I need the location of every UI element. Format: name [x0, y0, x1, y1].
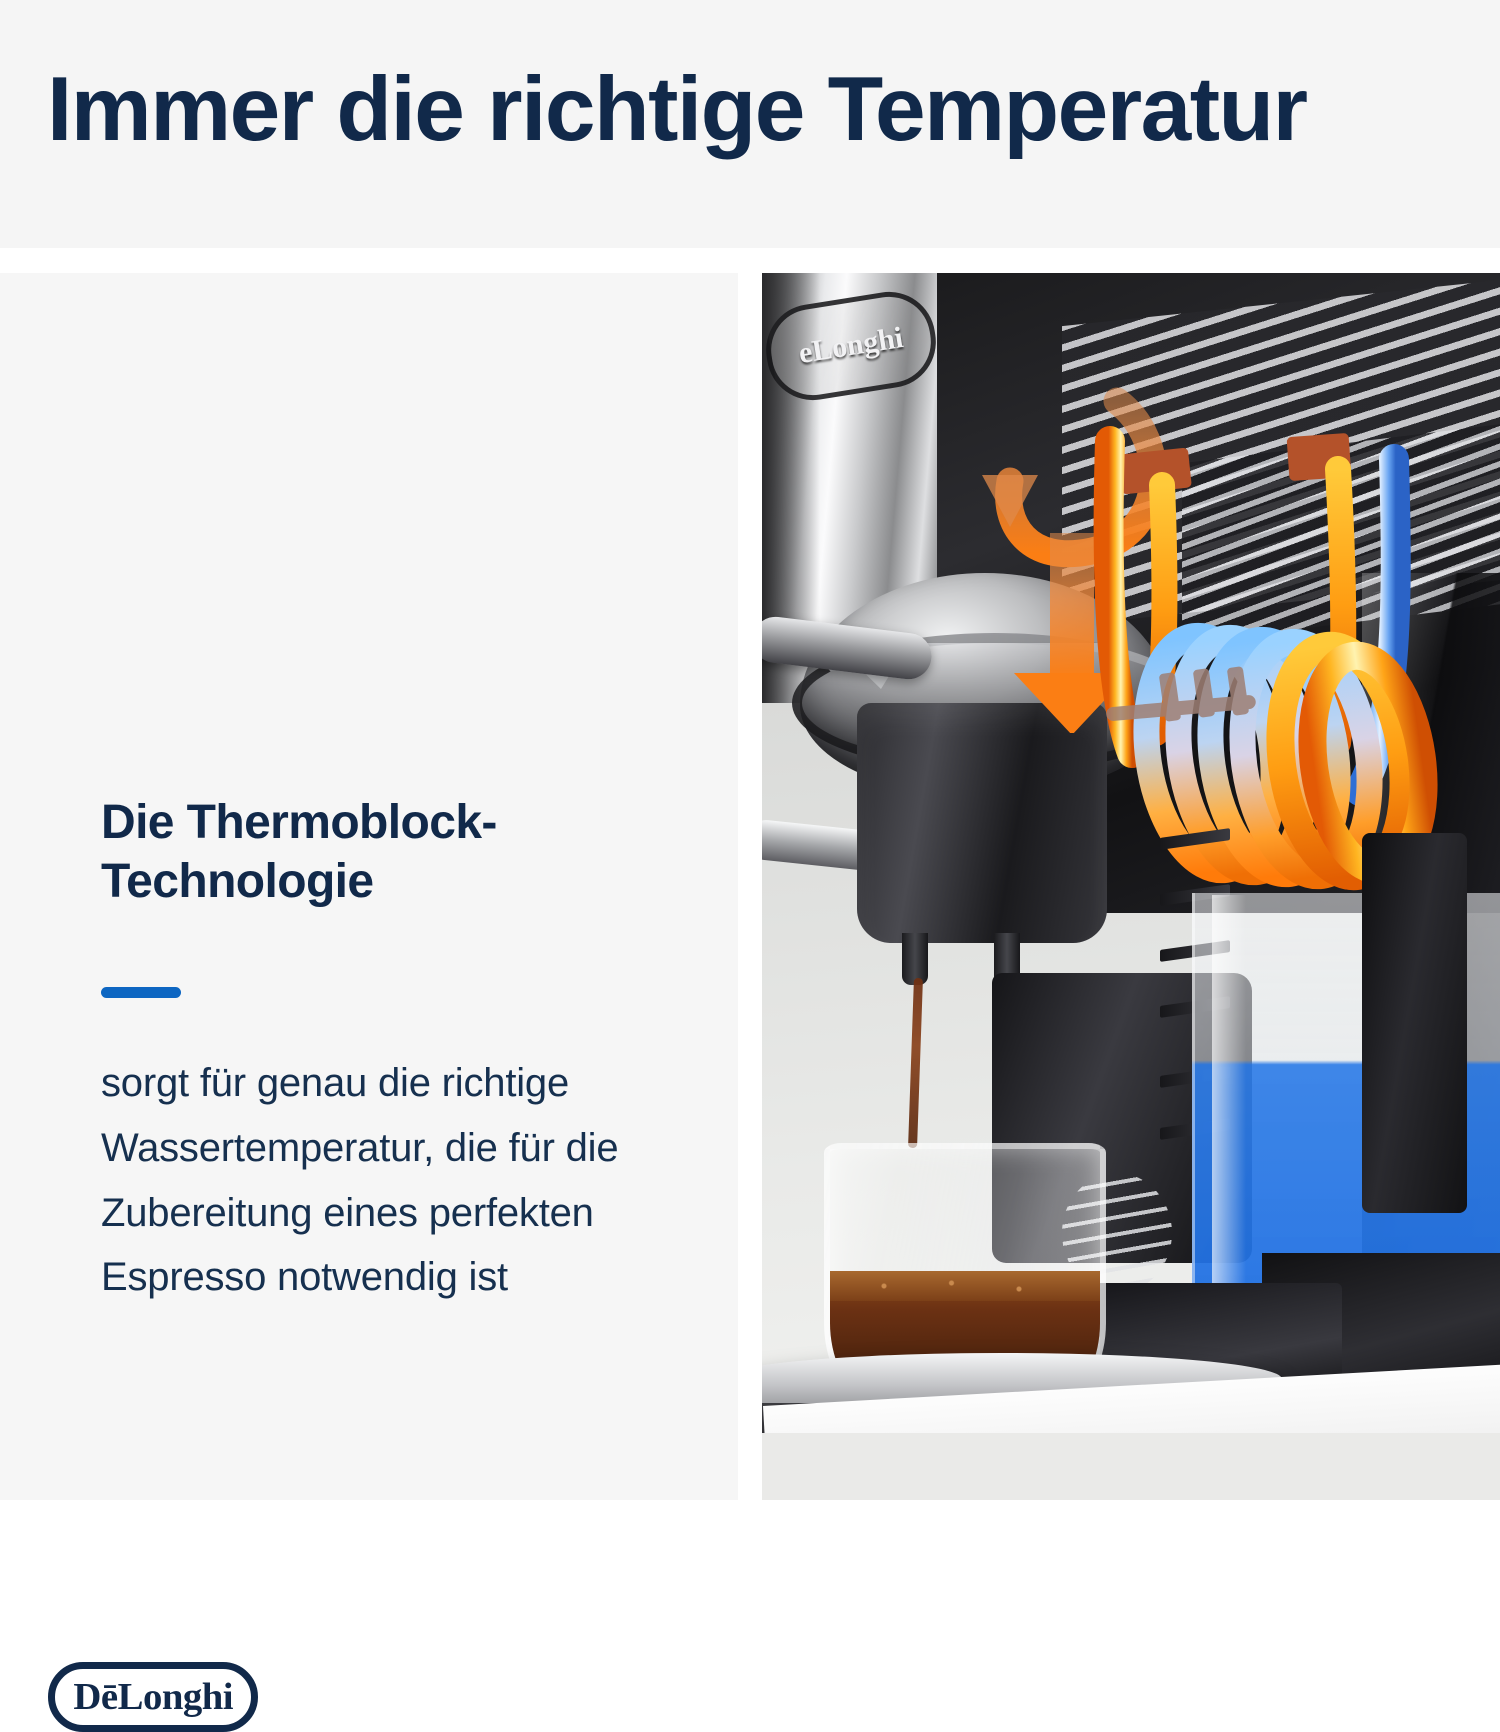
portafilter-spout-left — [902, 933, 928, 985]
water-tank-gloss — [1212, 895, 1246, 1325]
product-image: eLonghi CLOSE — [762, 273, 1500, 1500]
delonghi-logo: DēLonghi — [48, 1662, 258, 1732]
accent-divider — [101, 987, 181, 998]
water-tank-dark-insert — [1362, 833, 1467, 1213]
counter-surface-lower — [762, 1433, 1500, 1500]
feature-subtitle: Die Thermoblock-Technologie — [101, 794, 701, 911]
promo-page: Immer die richtige Temperatur Die Thermo… — [0, 0, 1500, 1500]
product-image-scene: eLonghi CLOSE — [762, 273, 1500, 1500]
delonghi-logo-text: DēLonghi — [73, 1678, 233, 1716]
espresso-crema — [830, 1271, 1100, 1301]
portafilter — [857, 703, 1107, 943]
page-title: Immer die richtige Temperatur — [47, 62, 1307, 158]
feature-body-text: sorgt für genau die richtige Wassertempe… — [101, 1051, 657, 1310]
feature-text-panel: Die Thermoblock-Technologie sorgt für ge… — [0, 273, 738, 1500]
machine-brand-badge-text: eLonghi — [796, 321, 905, 371]
header-band: Immer die richtige Temperatur — [0, 0, 1500, 248]
